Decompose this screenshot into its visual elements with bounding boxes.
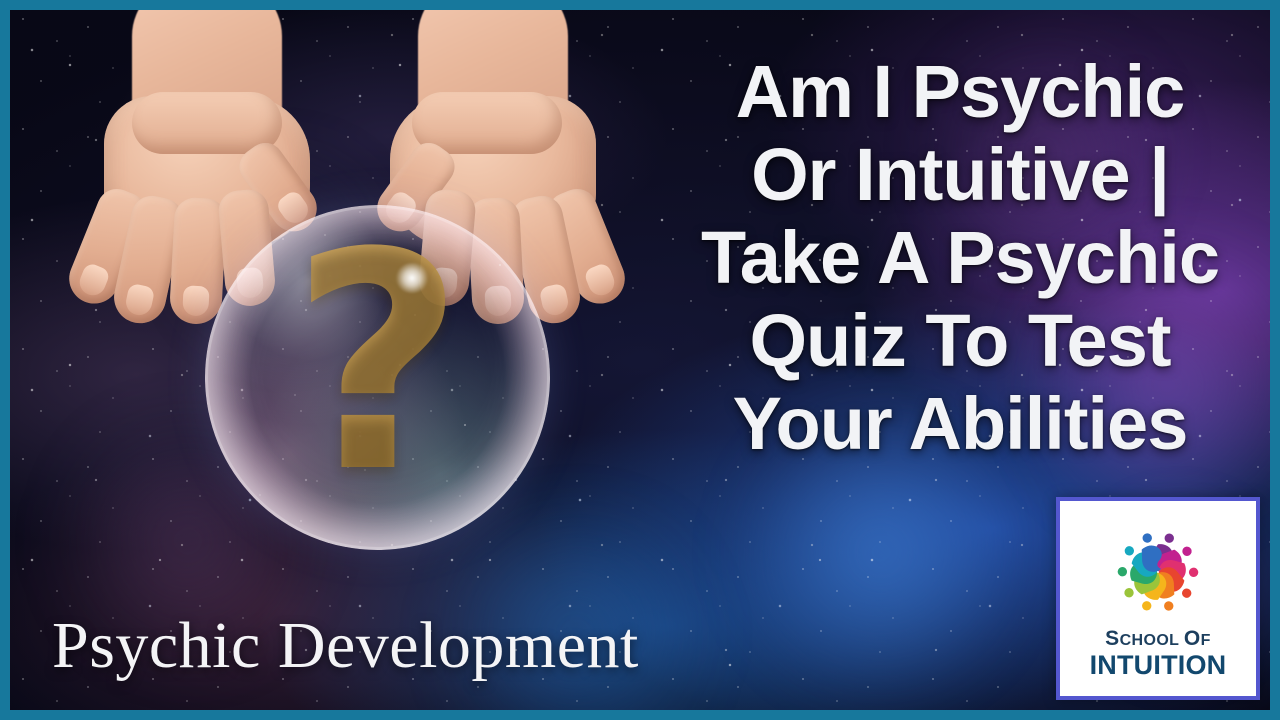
left-finger-2-nail	[124, 283, 156, 318]
title-line-4: Quiz To Test	[672, 299, 1248, 382]
title-line-1: Am I Psychic	[672, 50, 1248, 133]
brand-logo-text: SCHOOL OF INTUITION	[1090, 628, 1227, 679]
title-line-2: Or Intuitive |	[672, 133, 1248, 216]
title-line-5: Your Abilities	[672, 382, 1248, 465]
right-finger-1-nail	[583, 262, 618, 300]
logo-line-intuition: INTUITION	[1090, 652, 1227, 679]
page-title: Am I Psychic Or Intuitive | Take A Psych…	[672, 50, 1248, 465]
left-finger-1-nail	[76, 262, 111, 300]
thumbnail-stage: ? Am I Psychic Or Intuitive | Take A Psy…	[10, 10, 1270, 710]
category-label: Psychic Development	[52, 610, 639, 682]
logo-line-school-of: SCHOOL OF	[1090, 628, 1227, 649]
video-thumbnail: ? Am I Psychic Or Intuitive | Take A Psy…	[0, 0, 1280, 720]
title-line-3: Take A Psychic	[672, 216, 1248, 299]
crystal-ball: ?	[205, 205, 550, 550]
people-circle-icon	[1106, 520, 1210, 624]
orb-rim	[205, 205, 550, 550]
brand-logo-card[interactable]: SCHOOL OF INTUITION	[1056, 497, 1260, 700]
